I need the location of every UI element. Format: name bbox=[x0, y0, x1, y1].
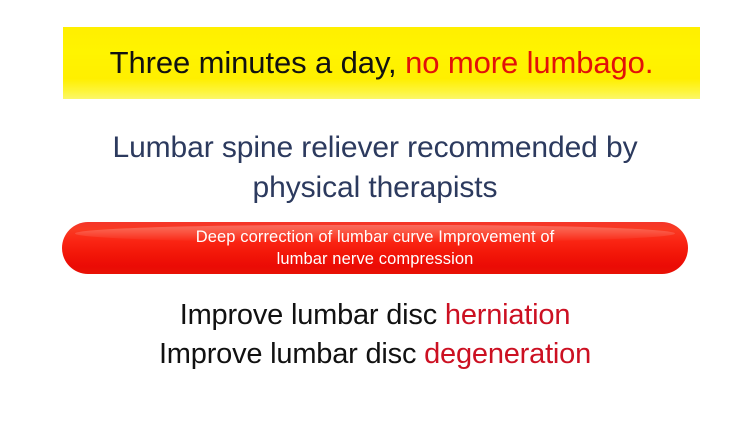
benefit-pill-text: Deep correction of lumbar curve Improvem… bbox=[196, 226, 555, 271]
headline-banner: Three minutes a day, no more lumbago. bbox=[63, 27, 700, 99]
subheading-line-1: Lumbar spine reliever recommended by bbox=[0, 128, 750, 168]
improvement-lead-text: Improve lumbar disc bbox=[180, 299, 445, 331]
benefit-pill-line-1: Deep correction of lumbar curve Improvem… bbox=[196, 226, 555, 248]
improvement-list: Improve lumbar disc herniation Improve l… bbox=[0, 296, 750, 373]
promo-card: Three minutes a day, no more lumbago. Lu… bbox=[0, 0, 750, 435]
improvement-line: Improve lumbar disc degeneration bbox=[0, 335, 750, 374]
headline-accent-text: no more lumbago. bbox=[405, 45, 653, 80]
improvement-accent-text: herniation bbox=[445, 299, 570, 331]
subheading: Lumbar spine reliever recommended by phy… bbox=[0, 128, 750, 207]
benefit-pill-line-2: lumbar nerve compression bbox=[196, 248, 555, 270]
subheading-line-2: physical therapists bbox=[0, 168, 750, 208]
headline-text: Three minutes a day, no more lumbago. bbox=[110, 47, 654, 80]
improvement-lead-text: Improve lumbar disc bbox=[159, 338, 424, 370]
benefit-pill: Deep correction of lumbar curve Improvem… bbox=[62, 222, 688, 274]
headline-lead-text: Three minutes a day, bbox=[110, 45, 405, 80]
improvement-line: Improve lumbar disc herniation bbox=[0, 296, 750, 335]
improvement-accent-text: degeneration bbox=[424, 338, 591, 370]
